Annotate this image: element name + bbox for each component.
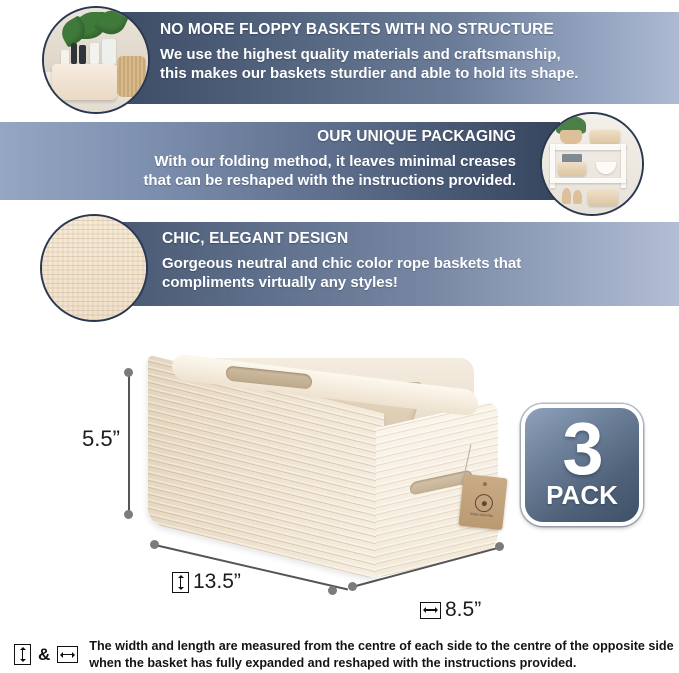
photo-2-shelf-top — [550, 144, 626, 150]
footnote-text: The width and length are measured from t… — [89, 638, 673, 671]
feature-banner-1: NO MORE FLOPPY BASKETS WITH NO STRUCTURE… — [120, 12, 679, 104]
feature-banner-1-line2: this makes our baskets sturdier and able… — [160, 64, 663, 83]
width-dimension-value: 8.5” — [445, 598, 481, 622]
height-dimension-label: 5.5” — [82, 426, 120, 452]
photo-1-bottle — [90, 43, 99, 64]
footnote-ampersand: & — [38, 645, 50, 665]
feature-banner-3-line1: Gorgeous neutral and chic color rope bas… — [162, 254, 663, 273]
width-dimension-dot-right — [495, 542, 504, 551]
length-dimension-dot-left — [150, 540, 159, 549]
width-dimension-label: 8.5” — [420, 598, 481, 622]
hang-tag-hole — [483, 482, 487, 486]
hang-tag: NaturalsGifts — [458, 474, 507, 530]
photo-1-bottle — [102, 39, 116, 64]
photo-1-rattan-basket — [117, 56, 146, 98]
length-dimension-dot-right — [328, 586, 337, 595]
photo-2-basket — [588, 190, 618, 206]
feature-banner-1-body: We use the highest quality materials and… — [160, 45, 663, 83]
photo-2-vase — [562, 188, 571, 204]
footnote-line1: The width and length are measured from t… — [89, 638, 673, 655]
height-dimension-dot-top — [124, 368, 133, 377]
photo-2-shelf-bottom — [550, 178, 626, 183]
pack-count-badge: 3 PACK — [521, 404, 643, 526]
length-dimension-value: 13.5” — [193, 570, 241, 594]
photo-3-rope-texture — [42, 216, 146, 320]
feature-photo-1 — [42, 6, 150, 114]
feature-banner-2: OUR UNIQUE PACKAGING With our folding me… — [0, 122, 560, 200]
feature-banner-1-heading: NO MORE FLOPPY BASKETS WITH NO STRUCTURE — [160, 21, 663, 40]
horizontal-arrow-icon — [57, 646, 78, 663]
hang-tag-brand: NaturalsGifts — [460, 511, 504, 520]
feature-banner-2-line1: With our folding method, it leaves minim… — [16, 152, 516, 171]
photo-1-bottle — [79, 45, 85, 64]
feature-banner-1-line1: We use the highest quality materials and… — [160, 45, 663, 64]
feature-banner-2-line2: that can be reshaped with the instructio… — [16, 171, 516, 190]
photo-1-basket — [52, 64, 116, 99]
length-dimension-label: 13.5” — [172, 570, 241, 594]
feature-banner-3-line2: compliments virtually any styles! — [162, 273, 663, 292]
width-dimension-dot-left — [348, 582, 357, 591]
feature-banner-3: CHIC, ELEGANT DESIGN Gorgeous neutral an… — [120, 222, 679, 306]
photo-2-basket — [558, 162, 586, 176]
feature-banner-2-body: With our folding method, it leaves minim… — [16, 152, 516, 190]
feature-banner-3-body: Gorgeous neutral and chic color rope bas… — [162, 254, 663, 292]
feature-photo-3 — [40, 214, 148, 322]
height-dimension-dot-bottom — [124, 510, 133, 519]
basket-product-image: NaturalsGifts — [148, 358, 506, 588]
feature-banner-2-heading: OUR UNIQUE PACKAGING — [16, 128, 516, 147]
pack-count-word: PACK — [546, 482, 618, 508]
vertical-arrow-icon — [14, 644, 31, 665]
photo-2-vase — [573, 190, 582, 204]
feature-photo-2 — [540, 112, 644, 216]
vertical-arrow-icon — [172, 572, 189, 593]
pack-count-number: 3 — [562, 418, 601, 480]
photo-1-bottle — [71, 43, 77, 64]
photo-2-pot — [560, 130, 582, 144]
measurement-footnote: & The width and length are measured from… — [14, 638, 674, 671]
photo-2-basket — [590, 130, 620, 144]
footnote-line2: when the basket has fully expanded and r… — [89, 655, 673, 672]
height-dimension-line — [128, 372, 130, 514]
brand-logo-icon — [474, 493, 494, 513]
feature-banner-3-heading: CHIC, ELEGANT DESIGN — [162, 230, 663, 249]
horizontal-arrow-icon — [420, 602, 441, 619]
